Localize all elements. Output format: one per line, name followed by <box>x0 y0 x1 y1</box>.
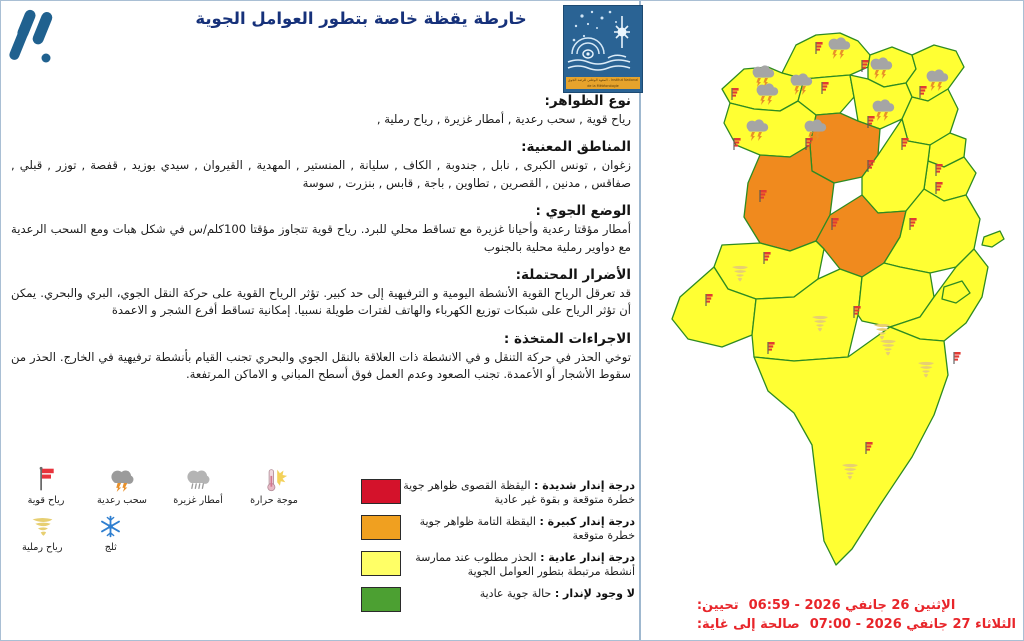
legend-label: أمطار غزيرة <box>167 495 229 506</box>
legend-item-strong-wind: رياح قوية <box>15 463 77 506</box>
section-body: قد تعرقل الرياح القوية الأنشطة اليومية و… <box>11 285 631 320</box>
section-phenomena: نوع الظواهر: رياح قوية , سحب رعدية , أمط… <box>11 93 631 128</box>
legend-item-heat-wave: موجة حرارة <box>243 463 305 506</box>
legend-spacer <box>221 510 276 553</box>
vigilance-map-page: خارطة يقظة خاصة بتطور العوامل الجوية <box>0 0 1024 641</box>
section-heading: نوع الظواهر: <box>11 93 631 109</box>
section-body: توخي الحذر في حركة التنقل و في الانشطة ذ… <box>11 349 631 384</box>
section-body: زغوان , تونس الكبرى , نابل , جندوبة , ال… <box>11 157 631 192</box>
alert-levels-legend: درجة إندار شديدة : اليقظة القصوى ظواهر ج… <box>353 479 635 620</box>
legend-label: رياح قوية <box>15 495 77 506</box>
alert-level-text: درجة إندار عادية : الحذر مطلوب عند ممارس… <box>401 551 635 579</box>
legend-item-heavy-rain: أمطار غزيرة <box>167 463 229 506</box>
section-heading: الوضع الجوي : <box>11 203 631 219</box>
info-panel: خارطة يقظة خاصة بتطور العوامل الجوية <box>1 1 641 640</box>
logo-artwork <box>564 6 642 76</box>
alert-level-title: درجة إندار عادية : <box>540 551 635 564</box>
status-badge-yellow <box>361 551 401 576</box>
section-regions: المناطق المعنية: زغوان , تونس الكبرى , ن… <box>11 139 631 192</box>
snowflake-icon <box>84 510 139 540</box>
page-title: خارطة يقظة خاصة بتطور العوامل الجوية <box>151 7 571 30</box>
inm-official-logo: المعهد الوطني للرصد الجوي - Institut Nat… <box>563 5 643 93</box>
section-heading: الأضرار المحتملة: <box>11 267 631 283</box>
alert-level-desc: اليقظة القصوى ظواهر جوية <box>403 479 530 492</box>
wind-flag-icon <box>954 352 961 364</box>
alert-level-desc: الحذر مطلوب عند ممارسة <box>415 551 536 564</box>
section-body: رياح قوية , سحب رعدية , أمطار غزيرة , ري… <box>11 111 631 128</box>
status-badge-orange <box>361 515 401 540</box>
status-badge-green <box>361 587 401 612</box>
legend-label: ثلج <box>84 542 139 553</box>
valid-value: الثلاثاء 27 جانفي 2026 - 07:00 <box>810 616 1016 634</box>
update-label: تحيين: <box>697 597 739 615</box>
phenomena-legend-row-1: رياح قوية <box>15 463 345 506</box>
tunisia-vigilance-map: تحيين: الإثنين 26 جانفي 2026 - 06:59 صال… <box>644 1 1024 640</box>
alert-level-title: درجة إندار كبيرة : <box>539 515 635 528</box>
heavy-rain-cloud-icon <box>167 463 229 493</box>
section-damages: الأضرار المحتملة: قد تعرقل الرياح القوية… <box>11 267 631 320</box>
valid-row: صالحة إلى غاية: الثلاثاء 27 جانفي 2026 -… <box>697 616 1016 634</box>
region-tataouine[interactable] <box>754 327 948 565</box>
alert-level-text: درجة إندار شديدة : اليقظة القصوى ظواهر ج… <box>401 479 635 507</box>
legend-item-thunder-clouds: سحب رعدية <box>91 463 153 506</box>
phenomena-legend-row-2: رياح رملية <box>15 510 345 553</box>
section-heading: المناطق المعنية: <box>11 139 631 155</box>
section-measures: الاجراءات المتخذة : توخي الحذر في حركة ا… <box>11 331 631 384</box>
inm-brand-mark-icon <box>7 7 67 65</box>
alert-level-title: درجة إندار شديدة : <box>534 479 635 492</box>
section-body: أمطار مؤقتا رعدية وأحيانا غزيرة مع تساقط… <box>11 221 631 256</box>
legend-label: رياح رملية <box>15 542 70 553</box>
alert-level-normal: درجة إندار عادية : الحذر مطلوب عند ممارس… <box>353 551 635 579</box>
phenomena-legend: رياح قوية <box>15 463 345 553</box>
alert-level-desc2: خطرة متوقعة <box>572 529 635 542</box>
valid-label: صالحة إلى غاية: <box>697 616 800 634</box>
alert-level-severe: درجة إندار شديدة : اليقظة القصوى ظواهر ج… <box>353 479 635 507</box>
legend-spacer <box>152 510 207 553</box>
status-badge-red <box>361 479 401 504</box>
legend-label: موجة حرارة <box>243 495 305 506</box>
logo-caption: المعهد الوطني للرصد الجوي - Institut Nat… <box>566 77 640 89</box>
sand-wind-tornado-icon <box>15 510 70 540</box>
alert-level-text: درجة إندار كبيرة : اليقظة التامة ظواهر ج… <box>401 515 635 543</box>
region-kerkennah[interactable] <box>982 231 1004 247</box>
alert-level-desc2: أنشطة مرتبطة بتطور العوامل الجوية <box>468 565 635 578</box>
section-weather: الوضع الجوي : أمطار مؤقتا رعدية وأحيانا … <box>11 203 631 256</box>
map-svg <box>644 5 1024 595</box>
update-row: تحيين: الإثنين 26 جانفي 2026 - 06:59 <box>697 597 1016 615</box>
alert-level-none: لا وجود لإندار : حالة جوية عادية <box>353 587 635 612</box>
page-title-block: خارطة يقظة خاصة بتطور العوامل الجوية <box>151 7 571 30</box>
update-value: الإثنين 26 جانفي 2026 - 06:59 <box>749 597 956 615</box>
bulletin-sections: نوع الظواهر: رياح قوية , سحب رعدية , أمط… <box>11 93 631 395</box>
region-bizerte[interactable] <box>782 33 870 79</box>
legend-item-snow: ثلج <box>84 510 139 553</box>
alert-level-desc: حالة جوية عادية <box>480 587 552 600</box>
alert-level-desc: اليقظة التامة ظواهر جوية <box>420 515 536 528</box>
bulletin-dates: تحيين: الإثنين 26 جانفي 2026 - 06:59 صال… <box>697 597 1016 634</box>
alert-level-high: درجة إندار كبيرة : اليقظة التامة ظواهر ج… <box>353 515 635 543</box>
legend-item-sand-wind: رياح رملية <box>15 510 70 553</box>
heat-wave-thermometer-icon <box>243 463 305 493</box>
thunder-cloud-icon <box>91 463 153 493</box>
legend-label: سحب رعدية <box>91 495 153 506</box>
alert-level-text: لا وجود لإندار : حالة جوية عادية <box>401 587 635 601</box>
section-heading: الاجراءات المتخذة : <box>11 331 631 347</box>
wind-flag-icon <box>15 463 77 493</box>
alert-level-title: لا وجود لإندار : <box>555 587 635 600</box>
alert-level-desc2: خطرة متوقعة و بقوة غير عادية <box>494 493 635 506</box>
